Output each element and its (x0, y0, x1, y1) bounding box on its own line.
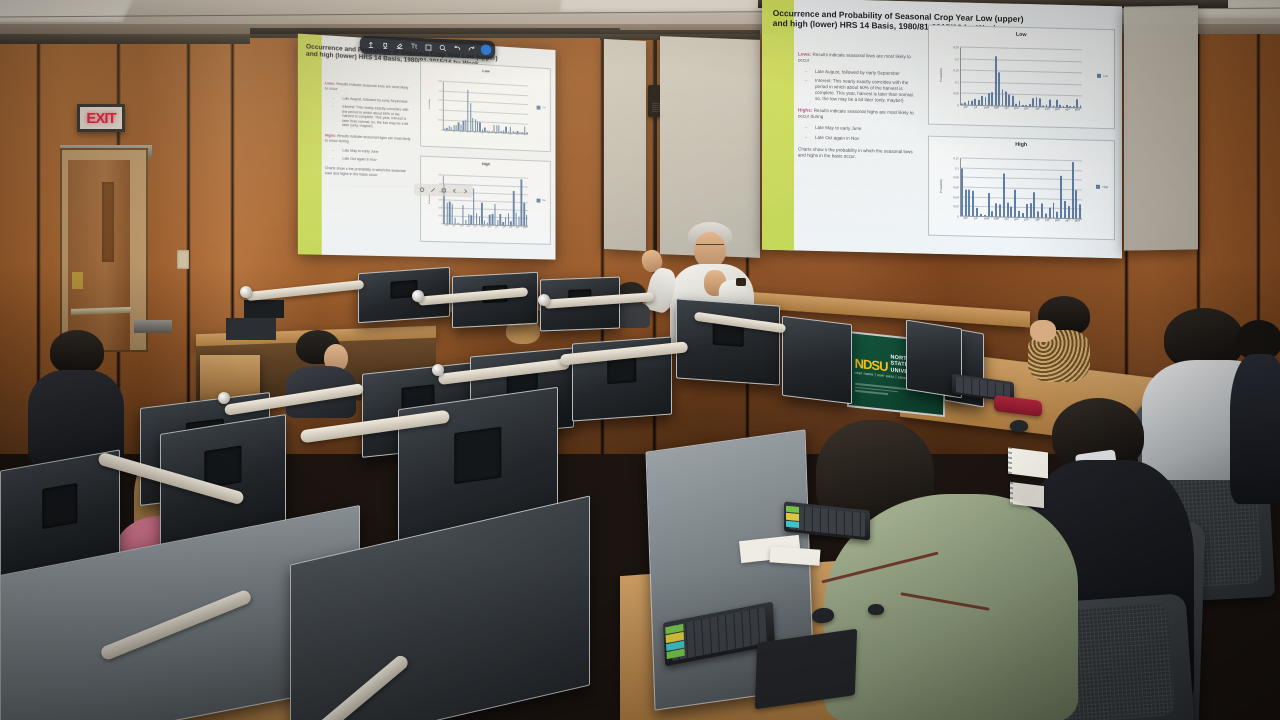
chart-y-tick-label: 0.06 (953, 185, 959, 189)
chart-y-tick-label: 0.06 (438, 199, 442, 201)
chart-gridline (443, 100, 528, 105)
chart-y-tick-label: 0.2 (955, 57, 959, 61)
chart-bar (1002, 90, 1004, 107)
chart-legend: High (1096, 185, 1108, 189)
slide-bullet: Interest: This nearly exactly coincides … (336, 104, 412, 131)
chart-legend: High (536, 198, 546, 202)
chart-bar (494, 204, 495, 226)
slide-bullet-list: Late August, followed by early September… (325, 96, 412, 131)
chart-high-right: HighProbability00.020.040.060.080.10.12J… (928, 135, 1115, 240)
chart-y-tick-label: 0.12 (953, 157, 959, 161)
magnifier-icon[interactable] (436, 41, 450, 56)
chart-y-axis (960, 48, 961, 105)
slide-paragraph: Highs: Results indicate seasonal highs a… (325, 133, 412, 146)
playback-toolbar-left[interactable] (414, 183, 473, 197)
pointer-icon[interactable] (418, 185, 426, 193)
chart-bar (968, 190, 970, 217)
chart-x-tick-label: Jul (453, 130, 456, 133)
chart-bar (521, 180, 522, 227)
chart-gridline (960, 58, 1082, 62)
student-far-right (1230, 320, 1280, 500)
notepad-spiral (1008, 448, 1012, 474)
torso (1230, 354, 1280, 504)
chart-y-tick-label: 0.1 (955, 166, 959, 170)
eraser-icon[interactable] (392, 39, 406, 54)
slide-body-left: Lows: Results indicate seasonal lows are… (325, 81, 412, 184)
chart-gridline (443, 199, 528, 203)
mouse[interactable] (1010, 420, 1028, 432)
chart-bar (1014, 190, 1016, 218)
chart-y-tick-label: 0.15 (953, 69, 959, 73)
chart-gridline (960, 93, 1082, 97)
chart-bar (473, 188, 474, 225)
chart-bar (1041, 203, 1043, 218)
hand (1030, 320, 1056, 342)
chart-y-tick-label: 0.05 (438, 119, 442, 121)
chart-bar (1072, 162, 1074, 218)
chart-plot-area: 00.020.040.060.080.10.12JunJulAugSepOctN… (960, 159, 1082, 219)
slide-paragraph: Highs: Results indicate seasonal highs a… (798, 108, 917, 123)
slide-right: Occurrence and Probability of Seasonal C… (762, 0, 1122, 258)
chart-legend-swatch (536, 198, 540, 202)
chart-bar (1030, 203, 1032, 217)
chart-bar (449, 202, 450, 225)
chart-gridline (960, 186, 1082, 190)
slide-bullet: Late May to early June (336, 148, 412, 156)
chart-low-left: LowProbability00.050.10.150.20.25JunJulA… (420, 61, 551, 153)
chart-y-tick-label: 0.1 (955, 80, 959, 84)
chart-y-tick-label: 0.2 (439, 90, 442, 92)
chart-y-axis (443, 176, 444, 225)
slide-bullet: Late August, followed by early September (336, 96, 412, 105)
chart-y-tick-label: 0.25 (438, 80, 442, 82)
slide-bullet: Late Oct again in Nov (809, 134, 917, 143)
chart-legend-swatch (1096, 185, 1100, 189)
chart-title: High (421, 160, 550, 169)
slide-accent-bar (298, 34, 322, 255)
chart-y-tick-label: 0.25 (953, 46, 959, 50)
chart-bar (1033, 192, 1035, 218)
monitor-arm-joint[interactable] (240, 286, 252, 298)
ndsu-logo-mark: NDSU (855, 356, 888, 372)
chart-bar (1064, 201, 1066, 218)
chart-bar (961, 168, 963, 216)
chart-y-tick-label: 0.08 (953, 176, 959, 180)
chart-bar (1003, 173, 1005, 217)
classroom-photo: EXIT Occurrence and Probability of Seaso… (0, 0, 1280, 720)
projection-screen-left: Occurrence and Probability of Seasonal C… (298, 34, 556, 260)
chart-plot-area: 00.020.040.060.080.10.12JunJulAugSepOctN… (443, 176, 528, 227)
chart-high-left: HighProbability00.020.040.060.080.10.12J… (420, 156, 551, 245)
chart-bar (998, 72, 1000, 106)
chart-gridline (960, 70, 1082, 74)
slide-keyword: Highs: (798, 108, 814, 113)
chart-y-tick-label: 0 (441, 129, 442, 131)
chart-legend: Low (537, 106, 546, 110)
chart-y-tick-label: 0.15 (438, 100, 442, 102)
chart-x-tick-label: Jul (453, 225, 456, 228)
more-options-icon[interactable] (481, 44, 492, 55)
notepad-spiral (1010, 482, 1013, 504)
chart-legend-swatch (1097, 74, 1101, 78)
slide-keyword: Lows: (798, 51, 813, 56)
chart-bar (965, 190, 967, 216)
monitor-back (676, 298, 780, 385)
chart-bar (472, 118, 473, 132)
student-front-left (28, 330, 124, 460)
chart-gridline (443, 90, 528, 96)
door-vision-panel (102, 182, 114, 262)
slide-body-right: Lows: Results indicate seasonal lows are… (798, 51, 917, 166)
av-equipment (226, 318, 276, 340)
chart-bar (995, 57, 997, 106)
chart-legend-label: Low (542, 107, 546, 109)
chart-bar (513, 190, 514, 226)
monitor-arm-joint[interactable] (538, 294, 550, 306)
notepad[interactable] (1010, 482, 1044, 508)
chart-bar (991, 92, 993, 106)
chart-bar (516, 212, 517, 226)
chart-y-tick-label: 0.1 (439, 110, 442, 112)
next-slide-icon[interactable] (462, 187, 470, 195)
projection-screen-blank-right (1124, 5, 1198, 250)
chart-bar (470, 103, 471, 132)
chart-legend: Low (1097, 74, 1108, 78)
chart-x-tick-label: Jul (974, 105, 979, 110)
slide-bullet-list: Late May to early JuneLate Oct again in … (325, 148, 412, 164)
exit-sign-label: EXIT (86, 110, 115, 127)
chart-y-tick-label: 0 (957, 214, 959, 218)
chart-bar (1060, 175, 1062, 218)
chart-gridline (960, 81, 1082, 85)
chart-gridline (960, 47, 1082, 51)
chart-y-axis-title: Probability (429, 99, 431, 109)
prev-slide-icon[interactable] (451, 187, 459, 195)
exit-sign: EXIT (77, 104, 125, 132)
chart-bar (523, 203, 524, 227)
ceiling-tile (0, 0, 137, 22)
chart-y-axis-title: Probability (939, 179, 943, 193)
chart-bar (446, 202, 447, 224)
presenter-watch (736, 278, 746, 286)
chart-title: High (929, 140, 1114, 151)
chart-y-tick-label: 0.02 (438, 215, 442, 217)
light-switch-plate[interactable] (177, 250, 189, 269)
chart-gridline (960, 196, 1082, 200)
hair (50, 330, 104, 374)
slide-bullet: Interest: This nearly exactly coincides … (809, 78, 917, 105)
slide-bullet: Late May to early June (809, 125, 917, 134)
presenter-glasses (696, 244, 724, 250)
slide-accent-bar (762, 0, 794, 250)
door-push-bar[interactable] (71, 307, 131, 315)
av-equipment (244, 300, 284, 318)
slide-bullet: Late August, followed by early September (809, 69, 917, 78)
chart-gridline (960, 167, 1082, 171)
monitor-arm-joint[interactable] (412, 290, 424, 302)
chart-x-axis (960, 104, 1082, 108)
chart-y-tick-label: 0.05 (953, 92, 959, 96)
notepad[interactable] (1008, 448, 1048, 479)
keyboard-keys[interactable] (789, 505, 865, 537)
chart-y-axis (960, 159, 961, 216)
shape-tool-icon[interactable] (421, 40, 435, 55)
chart-bar (972, 191, 974, 216)
presenter-head (694, 232, 726, 268)
slide-paragraph: Lows: Results indicate seasonal lows are… (798, 51, 917, 66)
screen-housing (0, 34, 250, 44)
projection-screen-right: Occurrence and Probability of Seasonal C… (762, 0, 1122, 258)
chart-bar (462, 205, 463, 225)
chart-legend-label: High (542, 199, 546, 201)
chart-bar (1005, 91, 1007, 106)
exit-door[interactable] (68, 160, 130, 350)
monitor-vesa-mount (454, 427, 501, 484)
chart-y-axis (443, 82, 444, 131)
chart-title: Low (421, 65, 550, 77)
chart-y-tick-label: 0 (441, 223, 442, 225)
slide-left: Occurrence and Probability of Seasonal C… (298, 34, 556, 260)
slides-icon[interactable] (440, 186, 448, 194)
chart-bar (481, 202, 482, 225)
chart-bar (468, 90, 469, 132)
chart-y-tick-label: 0.12 (438, 175, 442, 177)
slide-paragraph: Charts show s the probability in which t… (325, 166, 412, 179)
chart-x-tick-label: Oct (1004, 106, 1009, 111)
chart-gridline (443, 207, 528, 211)
undo-icon[interactable] (450, 41, 464, 56)
monitor-arm-joint[interactable] (432, 364, 444, 376)
chart-x-tick-label: Apr (1065, 218, 1070, 223)
slide-bullet-list: Late August, followed by early September… (798, 69, 917, 105)
chart-gridline (443, 175, 528, 179)
chart-y-tick-label: 0.04 (438, 207, 442, 209)
monitor-arm-joint[interactable] (218, 392, 230, 404)
chart-gridline (960, 177, 1082, 181)
door-sign-plate (72, 272, 83, 289)
slide-keyword: Highs: (325, 133, 337, 138)
pen-icon[interactable] (364, 38, 378, 53)
chart-x-tick-label: Jul (974, 216, 979, 221)
chart-y-tick-label: 0.02 (953, 204, 959, 208)
slide-keyword: Lows: (325, 81, 336, 86)
door-closer (134, 320, 172, 333)
chart-plot-area: 00.050.10.150.20.25JunJulAugSepOctNovDec… (960, 48, 1082, 108)
keyboard-accent-keys[interactable] (786, 505, 800, 528)
chart-y-axis-title: Probability (939, 68, 943, 82)
chart-legend-label: High (1102, 185, 1108, 189)
slide-paragraph: Charts show s the probability in which t… (798, 146, 917, 161)
chart-gridline (443, 81, 528, 87)
chart-plot-area: 00.050.10.150.20.25JunJulAugSepOctNovDec… (443, 82, 528, 135)
pen-icon[interactable] (429, 186, 437, 194)
chart-low-right: LowProbability00.050.10.150.20.25JunJulA… (928, 24, 1115, 129)
paper-sheet[interactable] (770, 546, 821, 565)
chart-legend-label: Low (1103, 74, 1108, 78)
slide-bullet: Late Oct again in Nov (336, 156, 412, 164)
slide-paragraph: Lows: Results indicate seasonal lows are… (325, 81, 412, 95)
chart-bar (1079, 205, 1081, 219)
chart-title: Low (929, 29, 1114, 40)
chart-bar (988, 193, 990, 217)
chart-x-tick-label: Oct (1004, 217, 1009, 222)
chart-gridline (960, 158, 1082, 162)
chart-y-tick-label: 0.04 (953, 195, 959, 199)
mouse[interactable] (868, 604, 884, 615)
wall-panel-seam (186, 34, 191, 454)
chart-bar (1075, 190, 1077, 219)
chart-gridline (443, 119, 528, 124)
keyboard-accent-keys[interactable] (665, 624, 684, 659)
monitor-back (782, 316, 852, 405)
monitor-vesa-mount (42, 483, 77, 529)
chart-bar (452, 203, 453, 224)
text-tool-icon[interactable]: Tt (407, 40, 421, 55)
chart-y-tick-label: 0 (957, 103, 959, 107)
chart-gridline (443, 110, 528, 115)
highlighter-icon[interactable] (378, 38, 392, 53)
chart-x-tick-label: Apr (1065, 107, 1070, 112)
chart-legend-swatch (537, 106, 541, 110)
redo-icon[interactable] (464, 42, 478, 57)
chart-bar (1053, 203, 1055, 218)
slide-bullet-list: Late May to early JuneLate Oct again in … (798, 125, 917, 143)
